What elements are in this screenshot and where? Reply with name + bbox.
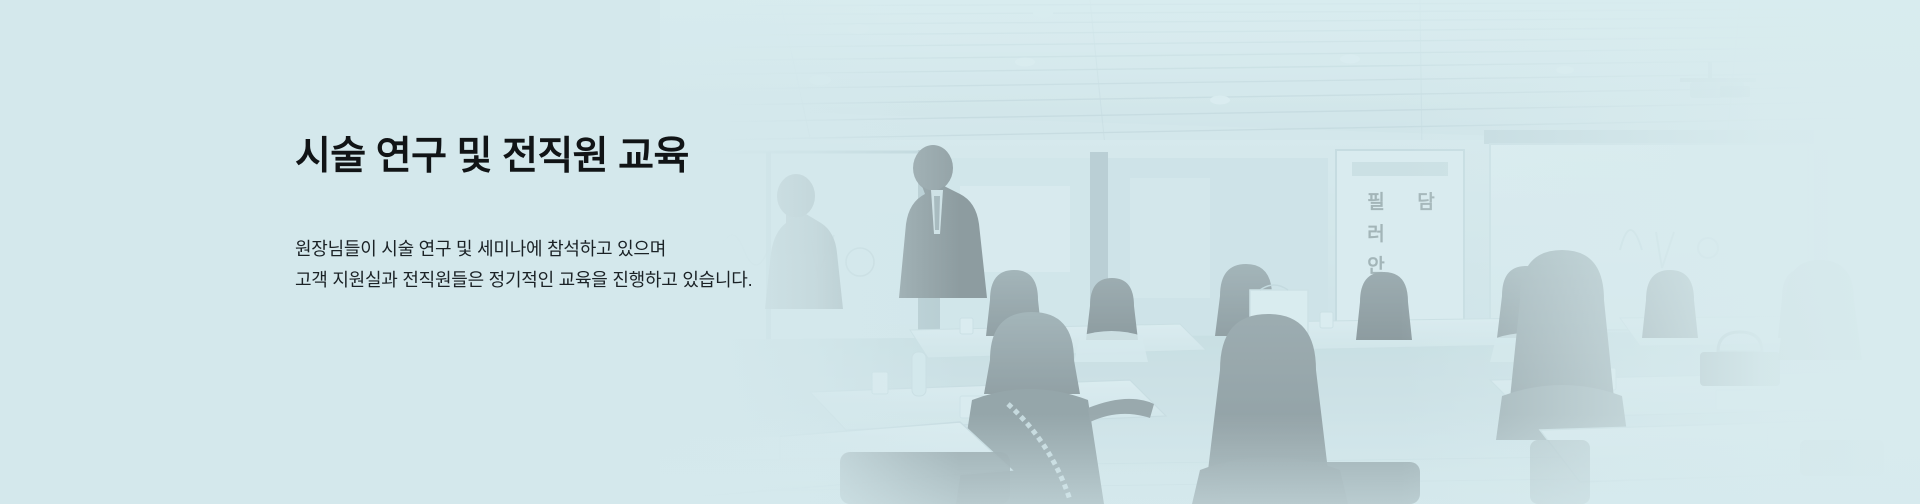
hero-subtitle-line-1: 원장님들이 시술 연구 및 세미나에 참석하고 있으며 [295, 234, 752, 266]
page-title: 시술 연구 및 전직원 교육 [295, 133, 752, 182]
hero-subtitle: 원장님들이 시술 연구 및 세미나에 참석하고 있으며 고객 지원실과 전직원들… [295, 182, 752, 297]
hero-text-block: 시술 연구 및 전직원 교육 원장님들이 시술 연구 및 세미나에 참석하고 있… [295, 133, 752, 297]
hero-subtitle-line-2: 고객 지원실과 전직원들은 정기적인 교육을 진행하고 있습니다. [295, 265, 752, 297]
seminar-room-photo: 필 러 안 전 상 담 [660, 0, 1920, 504]
hero-banner: 필 러 안 전 상 담 [0, 0, 1920, 504]
